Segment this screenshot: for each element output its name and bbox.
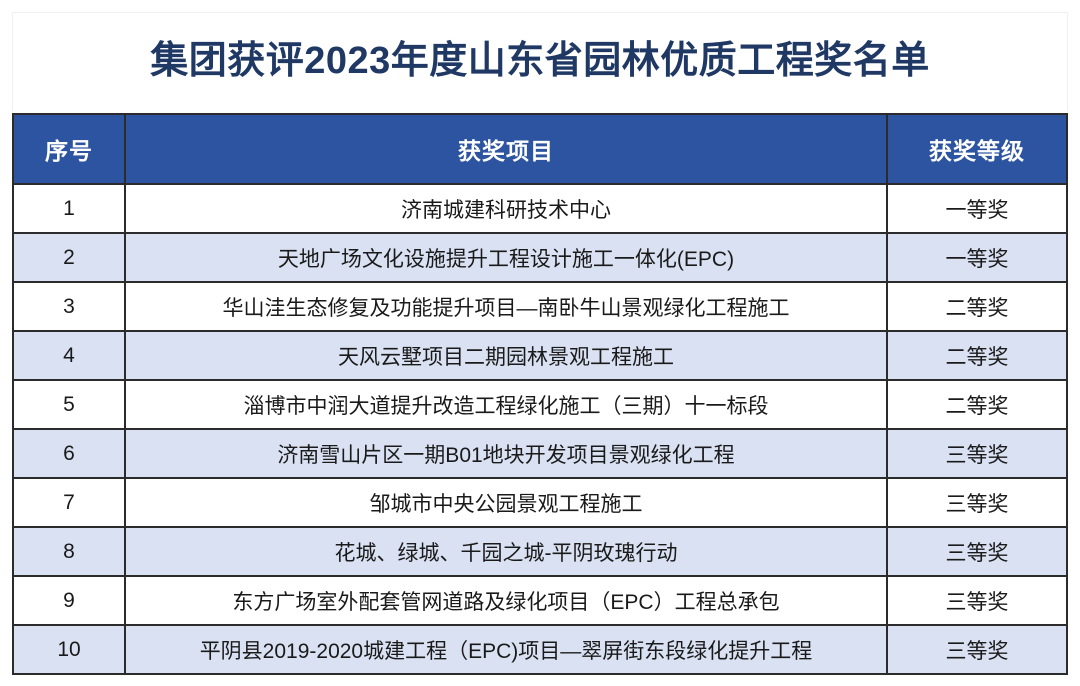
table-row: 6 济南雪山片区一期B01地块开发项目景观绿化工程 三等奖 (13, 429, 1067, 478)
row-grade: 三等奖 (887, 478, 1067, 527)
row-project: 平阴县2019-2020城建工程（EPC)项目—翠屏街东段绿化提升工程 (125, 625, 887, 674)
table-row: 7 邹城市中央公园景观工程施工 三等奖 (13, 478, 1067, 527)
column-header-no: 序号 (13, 114, 125, 184)
row-project: 济南雪山片区一期B01地块开发项目景观绿化工程 (125, 429, 887, 478)
row-grade: 三等奖 (887, 625, 1067, 674)
row-index: 1 (13, 184, 125, 233)
table-row: 10 平阴县2019-2020城建工程（EPC)项目—翠屏街东段绿化提升工程 三… (13, 625, 1067, 674)
row-project: 天风云墅项目二期园林景观工程施工 (125, 331, 887, 380)
row-index: 4 (13, 331, 125, 380)
row-project: 天地广场文化设施提升工程设计施工一体化(EPC) (125, 233, 887, 282)
table-row: 3 华山洼生态修复及功能提升项目—南卧牛山景观绿化工程施工 二等奖 (13, 282, 1067, 331)
row-project: 东方广场室外配套管网道路及绿化项目（EPC）工程总承包 (125, 576, 887, 625)
row-project: 邹城市中央公园景观工程施工 (125, 478, 887, 527)
row-grade: 一等奖 (887, 233, 1067, 282)
table-row: 4 天风云墅项目二期园林景观工程施工 二等奖 (13, 331, 1067, 380)
title-band: 集团获评2023年度山东省园林优质工程奖名单 (12, 12, 1068, 111)
row-grade: 三等奖 (887, 527, 1067, 576)
row-grade: 三等奖 (887, 576, 1067, 625)
row-index: 9 (13, 576, 125, 625)
column-header-project: 获奖项目 (125, 114, 887, 184)
row-index: 7 (13, 478, 125, 527)
table-row: 1 济南城建科研技术中心 一等奖 (13, 184, 1067, 233)
row-grade: 三等奖 (887, 429, 1067, 478)
row-project: 花城、绿城、千园之城-平阴玫瑰行动 (125, 527, 887, 576)
row-grade: 二等奖 (887, 380, 1067, 429)
table-header-row: 序号 获奖项目 获奖等级 (13, 114, 1067, 184)
row-grade: 一等奖 (887, 184, 1067, 233)
row-grade: 二等奖 (887, 331, 1067, 380)
row-project: 济南城建科研技术中心 (125, 184, 887, 233)
award-list-page: 集团获评2023年度山东省园林优质工程奖名单 序号 获奖项目 获奖等级 1 济南… (0, 0, 1080, 686)
row-index: 5 (13, 380, 125, 429)
table-row: 5 淄博市中润大道提升改造工程绿化施工（三期）十一标段 二等奖 (13, 380, 1067, 429)
row-grade: 二等奖 (887, 282, 1067, 331)
table-row: 8 花城、绿城、千园之城-平阴玫瑰行动 三等奖 (13, 527, 1067, 576)
table-row: 9 东方广场室外配套管网道路及绿化项目（EPC）工程总承包 三等奖 (13, 576, 1067, 625)
row-project: 淄博市中润大道提升改造工程绿化施工（三期）十一标段 (125, 380, 887, 429)
page-title: 集团获评2023年度山东省园林优质工程奖名单 (150, 41, 930, 83)
row-index: 6 (13, 429, 125, 478)
award-table-container: 序号 获奖项目 获奖等级 1 济南城建科研技术中心 一等奖 2 天地广场文化设施… (12, 113, 1068, 675)
row-project: 华山洼生态修复及功能提升项目—南卧牛山景观绿化工程施工 (125, 282, 887, 331)
row-index: 2 (13, 233, 125, 282)
row-index: 3 (13, 282, 125, 331)
table-header: 序号 获奖项目 获奖等级 (13, 114, 1067, 184)
table-body: 1 济南城建科研技术中心 一等奖 2 天地广场文化设施提升工程设计施工一体化(E… (13, 184, 1067, 674)
row-index: 10 (13, 625, 125, 674)
award-table: 序号 获奖项目 获奖等级 1 济南城建科研技术中心 一等奖 2 天地广场文化设施… (12, 113, 1068, 675)
row-index: 8 (13, 527, 125, 576)
table-row: 2 天地广场文化设施提升工程设计施工一体化(EPC) 一等奖 (13, 233, 1067, 282)
column-header-grade: 获奖等级 (887, 114, 1067, 184)
